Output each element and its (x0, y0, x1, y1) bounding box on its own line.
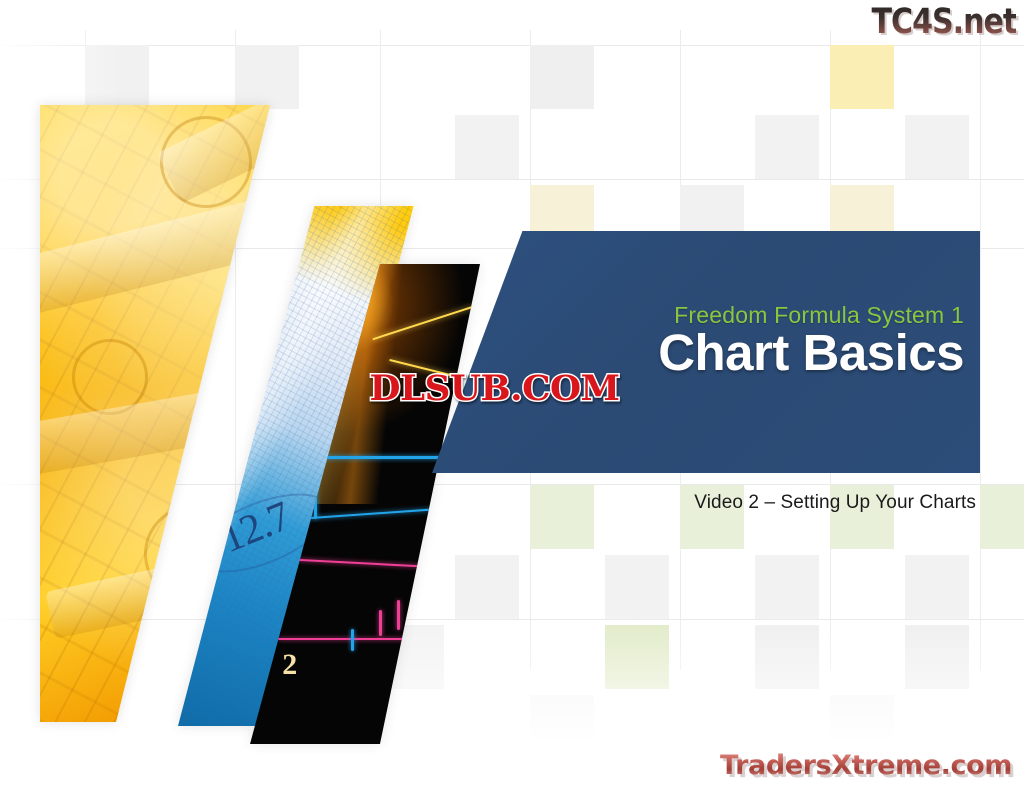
background-tile (905, 555, 969, 619)
background-tile (980, 485, 1024, 549)
background-tile (455, 115, 519, 179)
dark-chart-axis-label: 2 (282, 648, 297, 682)
background-tile (530, 45, 594, 109)
background-tile (905, 115, 969, 179)
presentation-slide: +12.7 2 Freedom Formula System 1 Chart B… (0, 0, 1024, 791)
background-tile (755, 115, 819, 179)
background-tile (455, 555, 519, 619)
title-band: Freedom Formula System 1 Chart Basics (432, 231, 980, 473)
background-tile (605, 555, 669, 619)
dlsub-watermark: DLSUB.COM (370, 368, 620, 409)
slide-subtitle: Video 2 – Setting Up Your Charts (0, 492, 976, 514)
tc4s-logo[interactable]: TC4S.net (871, 2, 1016, 42)
tradersxtreme-logo[interactable]: TradersXtreme.com (720, 750, 1012, 781)
background-rule-vertical (980, 30, 981, 670)
background-tile (755, 555, 819, 619)
background-tile (830, 45, 894, 109)
